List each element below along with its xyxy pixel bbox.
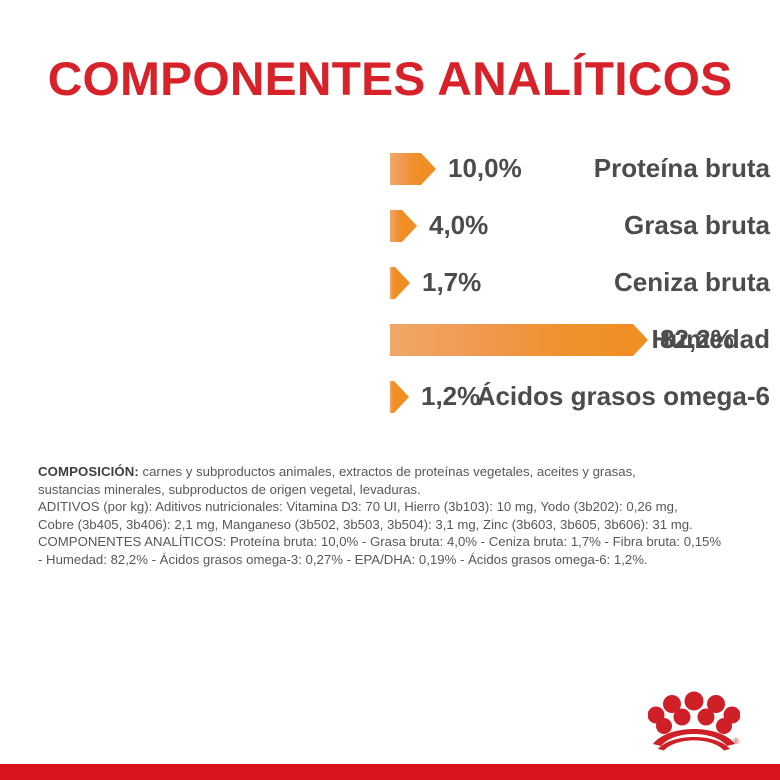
bar-fill [390, 153, 421, 185]
registered-trademark-icon: ® [733, 737, 739, 746]
composition-line-1: COMPOSICIÓN: carnes y subproductos anima… [38, 463, 746, 481]
table-row: Proteína bruta 10,0% [0, 140, 780, 197]
bar-fill [390, 267, 395, 299]
row-value-grasa-bruta: 4,0% [429, 197, 488, 254]
row-bar-ceniza-bruta [390, 254, 395, 311]
analytical-components-chart: Proteína bruta 10,0% Grasa bruta 4,0% Ce… [0, 140, 780, 425]
composition-text-block: COMPOSICIÓN: carnes y subproductos anima… [38, 463, 746, 569]
row-bar-grasa-bruta [390, 197, 402, 254]
royal-canin-crown-logo: ® [648, 690, 740, 752]
table-row: Ácidos grasos omega-6 1,2% [0, 368, 780, 425]
table-row: Ceniza bruta 1,7% [0, 254, 780, 311]
row-bar-humedad [390, 311, 633, 368]
row-bar-proteina-bruta [390, 140, 421, 197]
composition-line-6: - Humedad: 82,2% - Ácidos grasos omega-3… [38, 551, 746, 569]
bottom-accent-bar [0, 764, 780, 780]
row-bar-acidos-grasos-omega-6 [390, 368, 394, 425]
composition-line-3: ADITIVOS (por kg): Aditivos nutricionale… [38, 498, 746, 516]
row-value-proteina-bruta: 10,0% [448, 140, 522, 197]
bar-fill [390, 381, 394, 413]
row-value-acidos-grasos-omega-6: 1,2% [421, 368, 480, 425]
composition-lead-label: COMPOSICIÓN: [38, 464, 139, 479]
composition-line-2: sustancias minerales, subproductos de or… [38, 481, 746, 499]
row-value-ceniza-bruta: 1,7% [422, 254, 481, 311]
table-row: Humedad 82,2% [0, 311, 780, 368]
page-title: COMPONENTES ANALÍTICOS [0, 51, 780, 107]
table-row: Grasa bruta 4,0% [0, 197, 780, 254]
bar-fill [390, 210, 402, 242]
nutrition-panel: COMPONENTES ANALÍTICOS Proteína bruta 10… [0, 0, 780, 780]
composition-line-4: Cobre (3b405, 3b406): 2,1 mg, Manganeso … [38, 516, 746, 534]
composition-line-5: COMPONENTES ANALÍTICOS: Proteína bruta: … [38, 533, 746, 551]
row-value-humedad: 82,2% [660, 311, 734, 368]
bar-fill [390, 324, 633, 356]
composition-line-1-text: carnes y subproductos animales, extracto… [139, 464, 636, 479]
